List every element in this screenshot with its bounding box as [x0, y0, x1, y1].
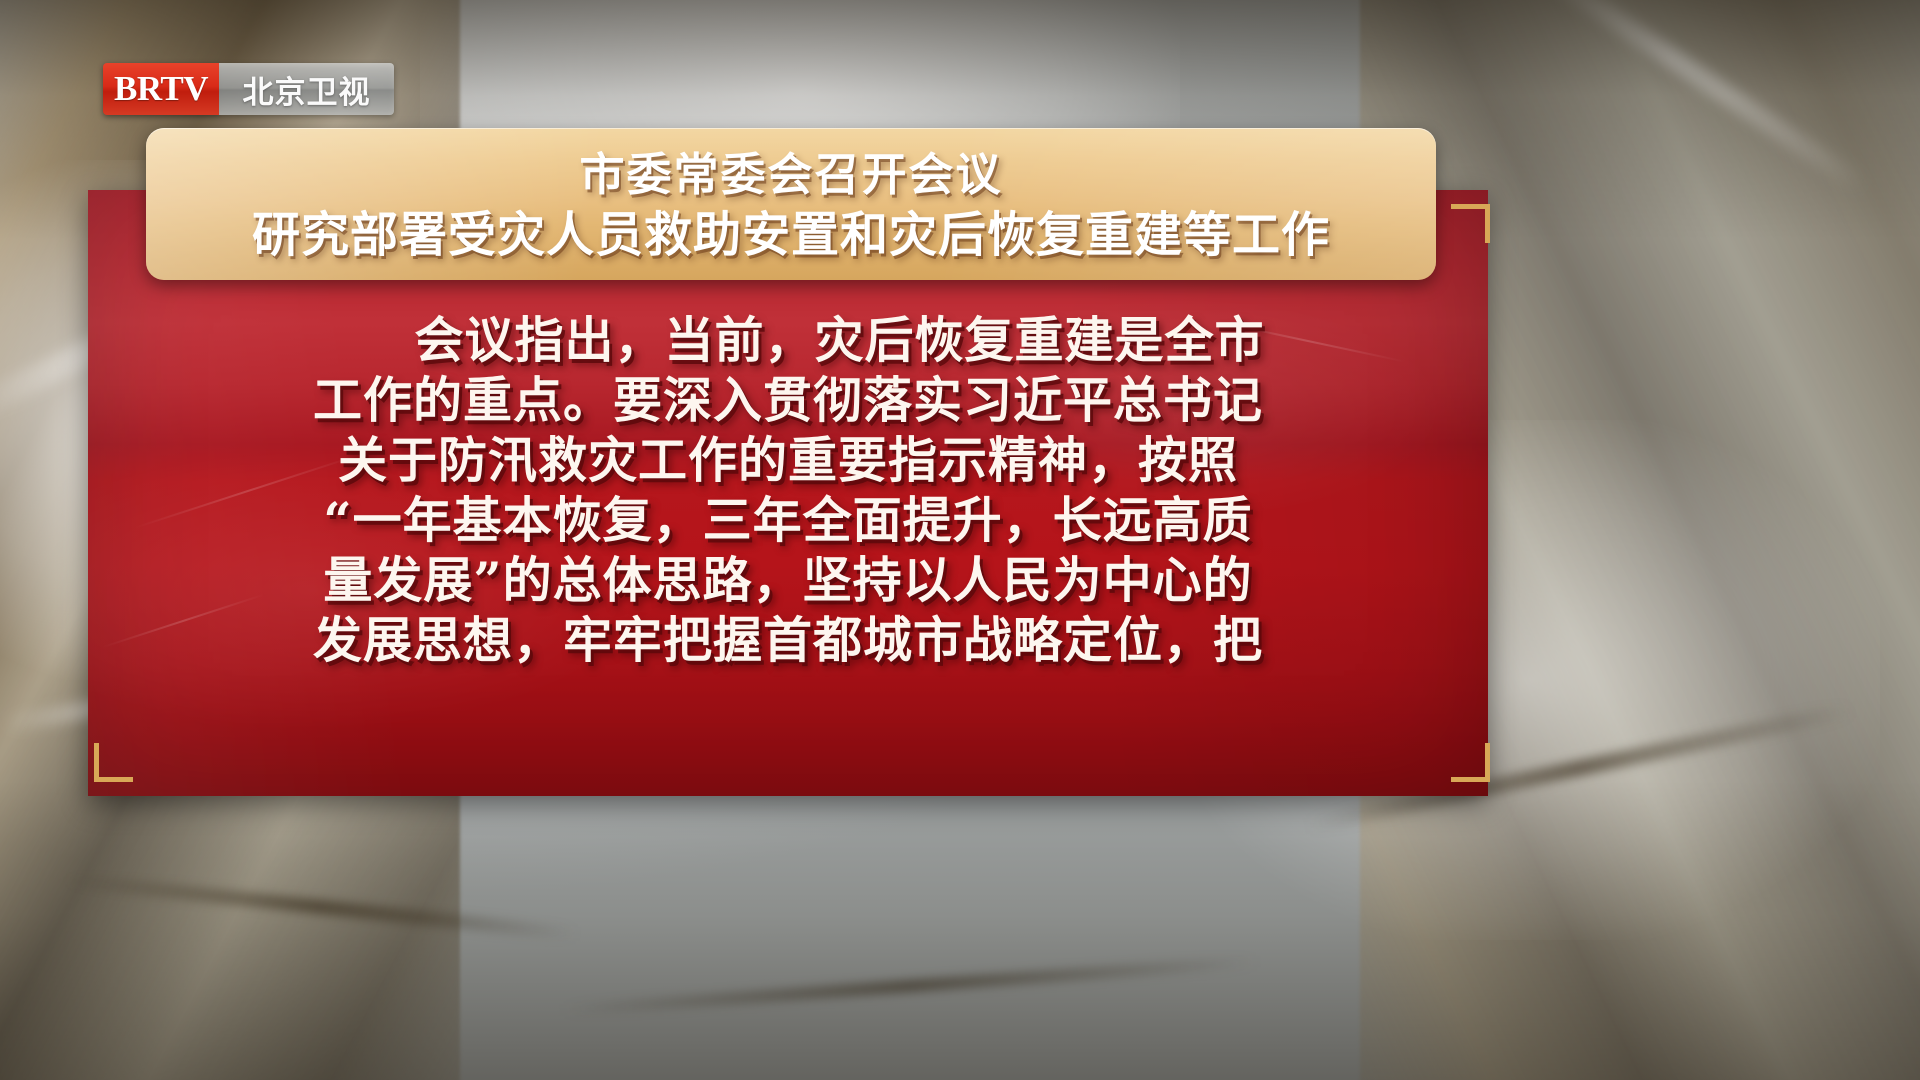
caption-body-line: 量发展”的总体思路，坚持以人民为中心的 [88, 550, 1488, 610]
channel-logo: BRTV 北京卫视 [103, 63, 394, 115]
headline-text-block: 市委常委会召开会议 研究部署受灾人员救助安置和灾后恢复重建等工作 [146, 128, 1436, 266]
background-bottom-vignette [0, 780, 1920, 1080]
corner-accent-bottom-right [1451, 743, 1490, 782]
caption-body-line: 工作的重点。要深入贯彻落实习近平总书记 [88, 370, 1488, 430]
corner-accent-bottom-left [94, 743, 133, 782]
caption-body-line: 关于防汛救灾工作的重要指示精神，按照 [88, 430, 1488, 490]
news-caption-panel: 市委常委会召开会议 研究部署受灾人员救助安置和灾后恢复重建等工作 会议指出，当前… [88, 128, 1488, 796]
broadcast-screen: BRTV 北京卫视 市委常委会召开会议 研究部署受灾人员救助安置和灾后恢复重建等… [0, 0, 1920, 1080]
channel-logo-beijing-tv: 北京卫视 [219, 63, 394, 115]
corner-accent-top-right [1451, 204, 1490, 243]
caption-body-line: “一年基本恢复，三年全面提升，长远高质 [88, 490, 1488, 550]
caption-body-text: 会议指出，当前，灾后恢复重建是全市 工作的重点。要深入贯彻落实习近平总书记 关于… [88, 310, 1488, 670]
headline-line-2: 研究部署受灾人员救助安置和灾后恢复重建等工作 [146, 204, 1436, 266]
channel-logo-brtv: BRTV [103, 63, 219, 115]
caption-body-line: 发展思想，牢牢把握首都城市战略定位，把 [88, 610, 1488, 670]
headline-plate: 市委常委会召开会议 研究部署受灾人员救助安置和灾后恢复重建等工作 [146, 128, 1436, 280]
headline-line-1: 市委常委会召开会议 [146, 146, 1436, 204]
caption-body-line: 会议指出，当前，灾后恢复重建是全市 [88, 310, 1488, 370]
